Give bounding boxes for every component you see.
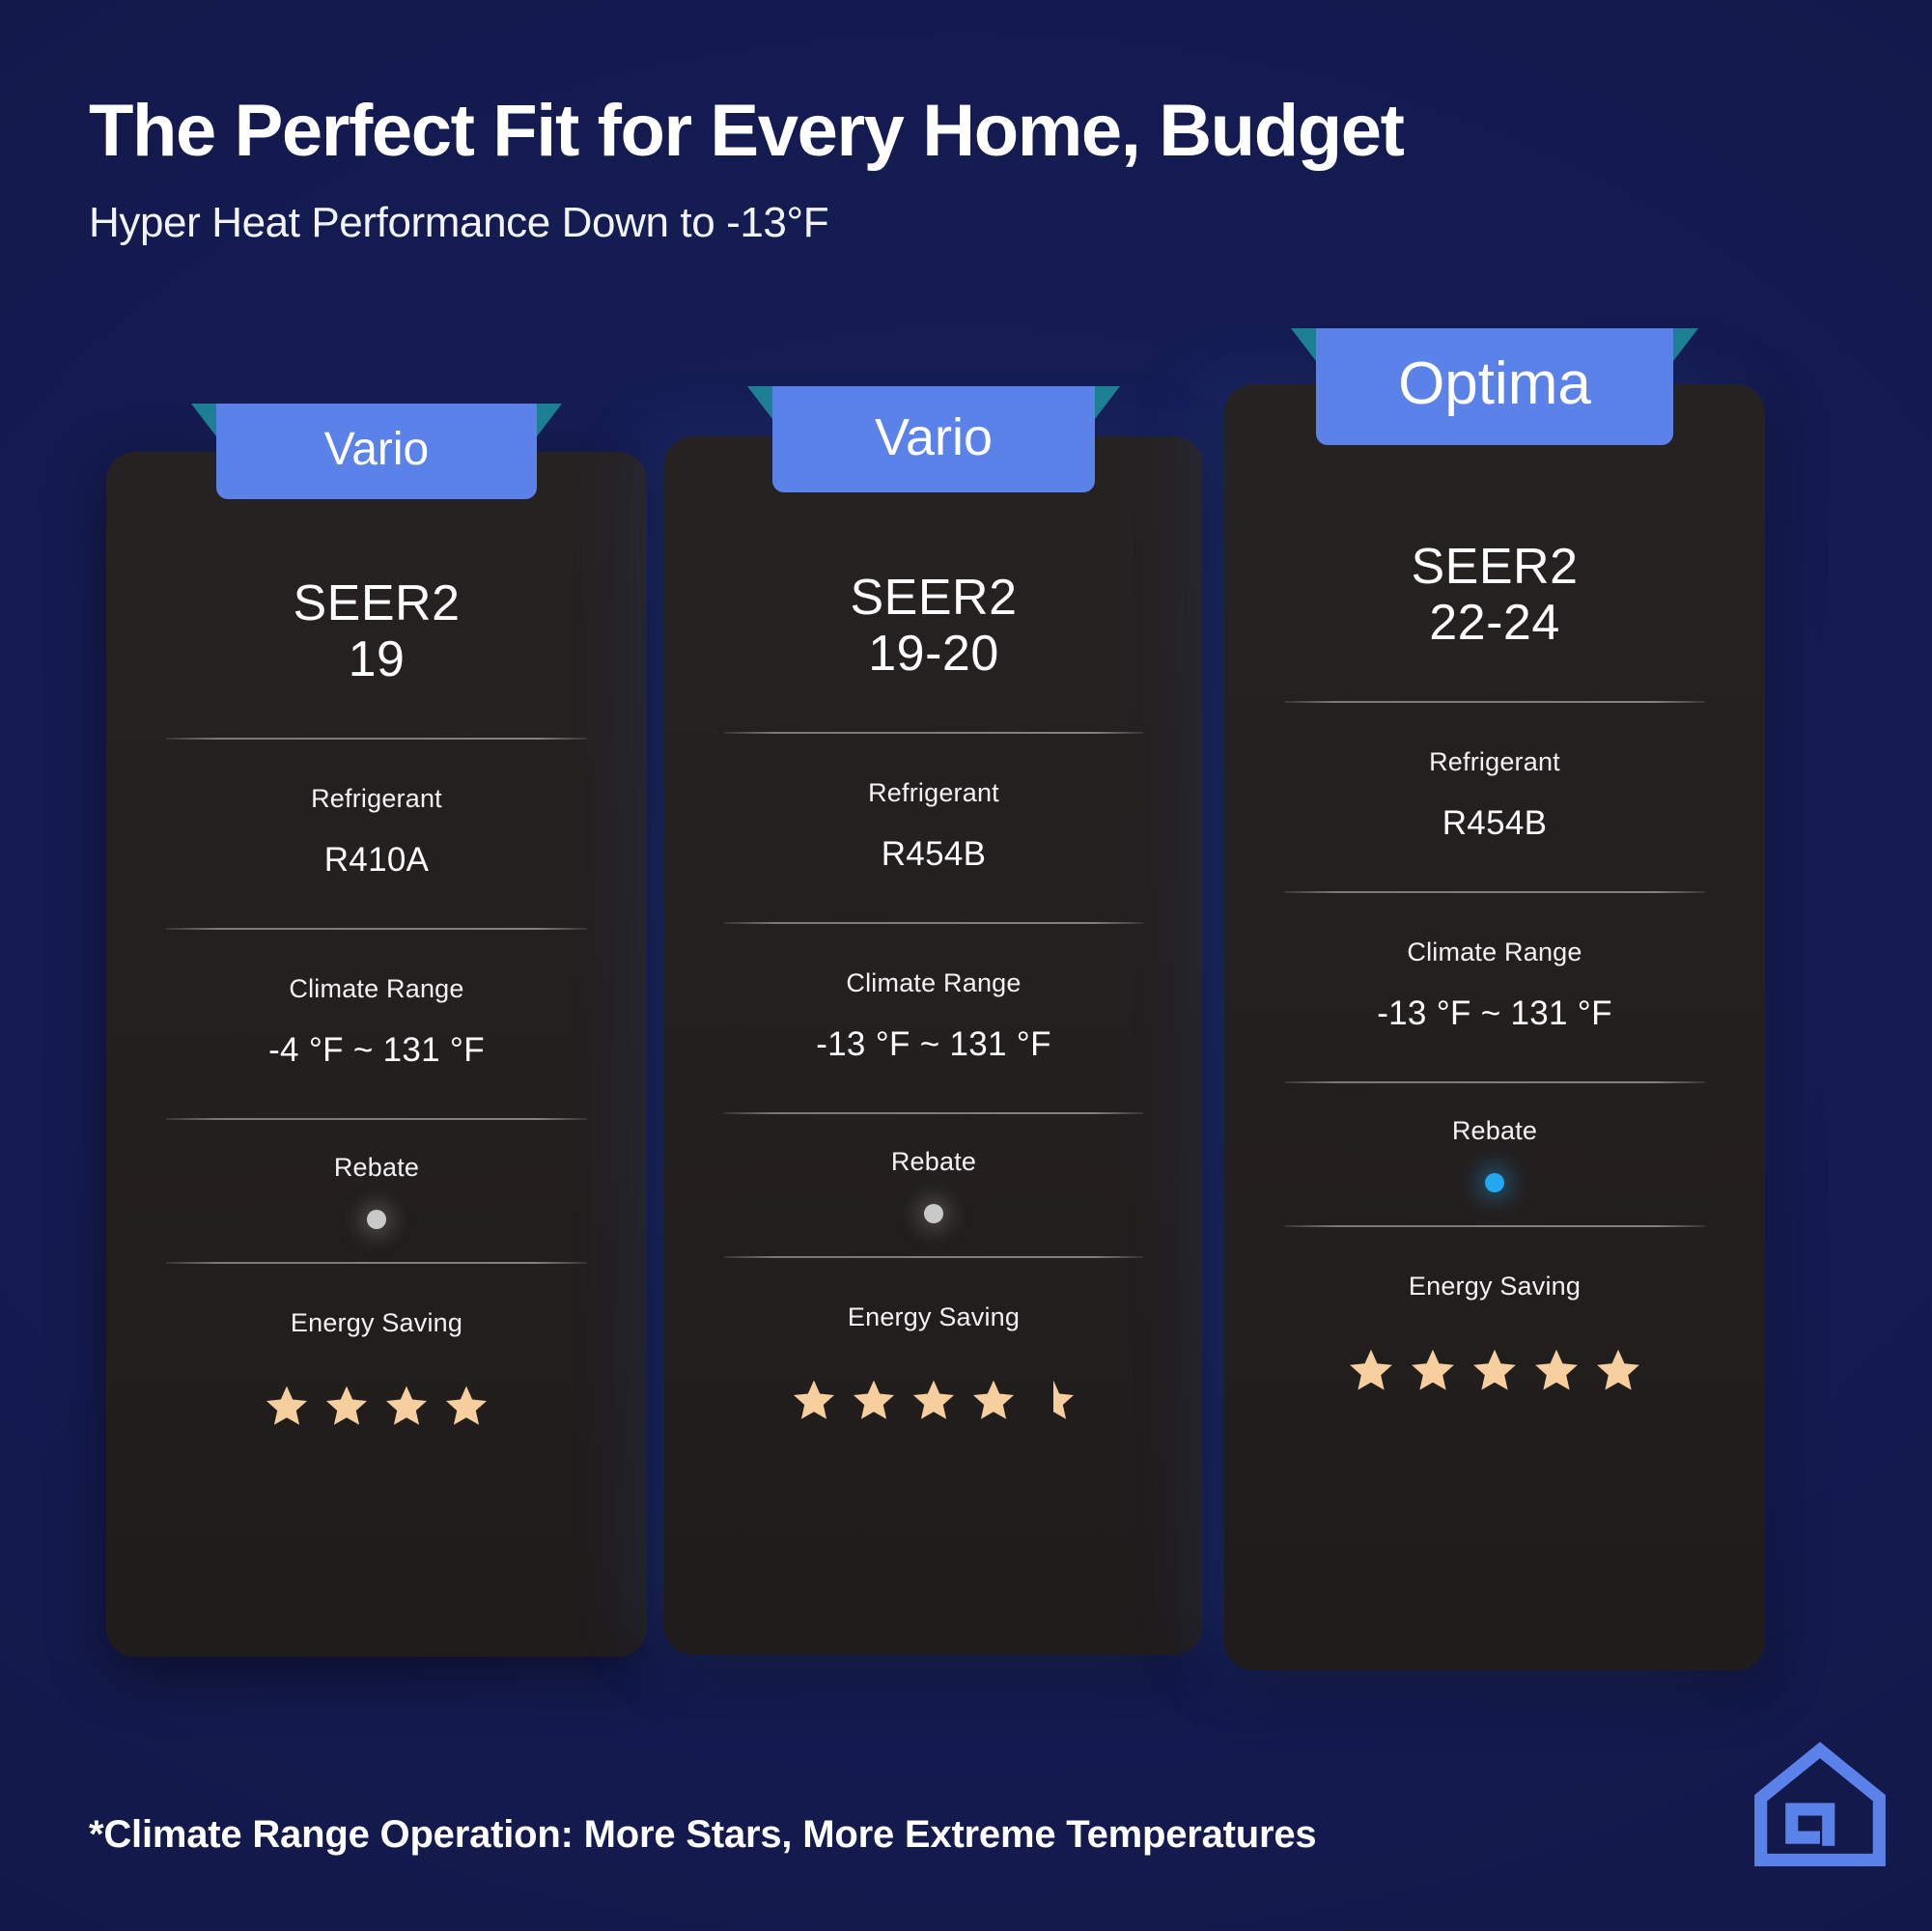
star-icon [970,1377,1017,1423]
ribbon-fold-left-icon [1291,328,1316,361]
ribbon-badge: Optima [1316,328,1673,445]
product-card-vario-19-20[interactable]: SEER2 19-20 Refrigerant R454B Climate Ra… [664,436,1203,1655]
ribbon-fold-left-icon [191,404,216,436]
star-icon [791,1377,837,1423]
seer-value: 19-20 [724,626,1143,682]
ribbon-fold-right-icon [1673,328,1698,361]
ribbon-badge: Vario [216,404,537,499]
climate-range-label: Climate Range [724,968,1143,998]
ribbon-label: Vario [875,408,993,466]
energy-saving-stars [166,1383,587,1429]
rebate-label: Rebate [1284,1116,1705,1146]
rebate-label: Rebate [166,1153,587,1183]
ribbon-fold-left-icon [747,386,772,419]
star-icon [851,1377,897,1423]
climate-range-label: Climate Range [166,974,587,1004]
ribbon-badge: Vario [772,386,1095,492]
climate-range-value: -13 °F ~ 131 °F [1284,994,1705,1033]
star-icon [910,1377,957,1423]
ribbon-optima: Optima [1316,328,1673,445]
seer-value: 19 [166,631,587,687]
climate-range-value: -4 °F ~ 131 °F [166,1031,587,1070]
star-icon [1409,1346,1457,1394]
refrigerant-value: R454B [1284,804,1705,843]
seer-label: SEER2 [1284,539,1705,595]
refrigerant-value: R410A [166,841,587,880]
ribbon-label: Optima [1398,350,1591,417]
star-icon [264,1383,310,1429]
star-icon [323,1383,370,1429]
product-card-optima[interactable]: SEER2 22-24 Refrigerant R454B Climate Ra… [1224,384,1765,1670]
rebate-indicator-dot [1485,1173,1504,1192]
comparison-cards: SEER2 19 Refrigerant R410A Climate Range… [0,0,1932,1931]
ribbon-vario-2: Vario [772,386,1095,492]
rebate-indicator-dot [924,1204,943,1223]
star-icon [443,1383,490,1429]
climate-range-value: -13 °F ~ 131 °F [724,1025,1143,1064]
card-content: SEER2 19-20 Refrigerant R454B Climate Ra… [664,436,1203,1423]
rebate-indicator-dot [367,1210,386,1229]
star-icon [1347,1346,1395,1394]
card-content: SEER2 22-24 Refrigerant R454B Climate Ra… [1224,384,1765,1394]
footnote: *Climate Range Operation: More Stars, Mo… [89,1813,1316,1857]
house-logo [1750,1736,1890,1877]
star-icon [1594,1346,1642,1394]
rebate-label: Rebate [724,1147,1143,1177]
refrigerant-label: Refrigerant [1284,747,1705,777]
refrigerant-label: Refrigerant [166,784,587,814]
energy-saving-label: Energy Saving [1284,1272,1705,1301]
refrigerant-label: Refrigerant [724,778,1143,808]
star-icon [1532,1346,1581,1394]
half-star-icon [1030,1377,1077,1423]
seer-label: SEER2 [166,575,587,631]
ribbon-fold-right-icon [1095,386,1120,419]
ribbon-label: Vario [324,424,430,475]
energy-saving-label: Energy Saving [724,1302,1143,1332]
energy-saving-label: Energy Saving [166,1308,587,1338]
card-content: SEER2 19 Refrigerant R410A Climate Range… [106,452,647,1429]
star-icon [383,1383,430,1429]
energy-saving-stars [1284,1346,1705,1394]
star-icon [1470,1346,1519,1394]
seer-label: SEER2 [724,570,1143,626]
product-card-vario-19[interactable]: SEER2 19 Refrigerant R410A Climate Range… [106,452,647,1657]
seer-value: 22-24 [1284,595,1705,651]
ribbon-fold-right-icon [537,404,562,436]
refrigerant-value: R454B [724,835,1143,874]
ribbon-vario-1: Vario [216,404,537,499]
energy-saving-stars [724,1377,1143,1423]
climate-range-label: Climate Range [1284,938,1705,967]
